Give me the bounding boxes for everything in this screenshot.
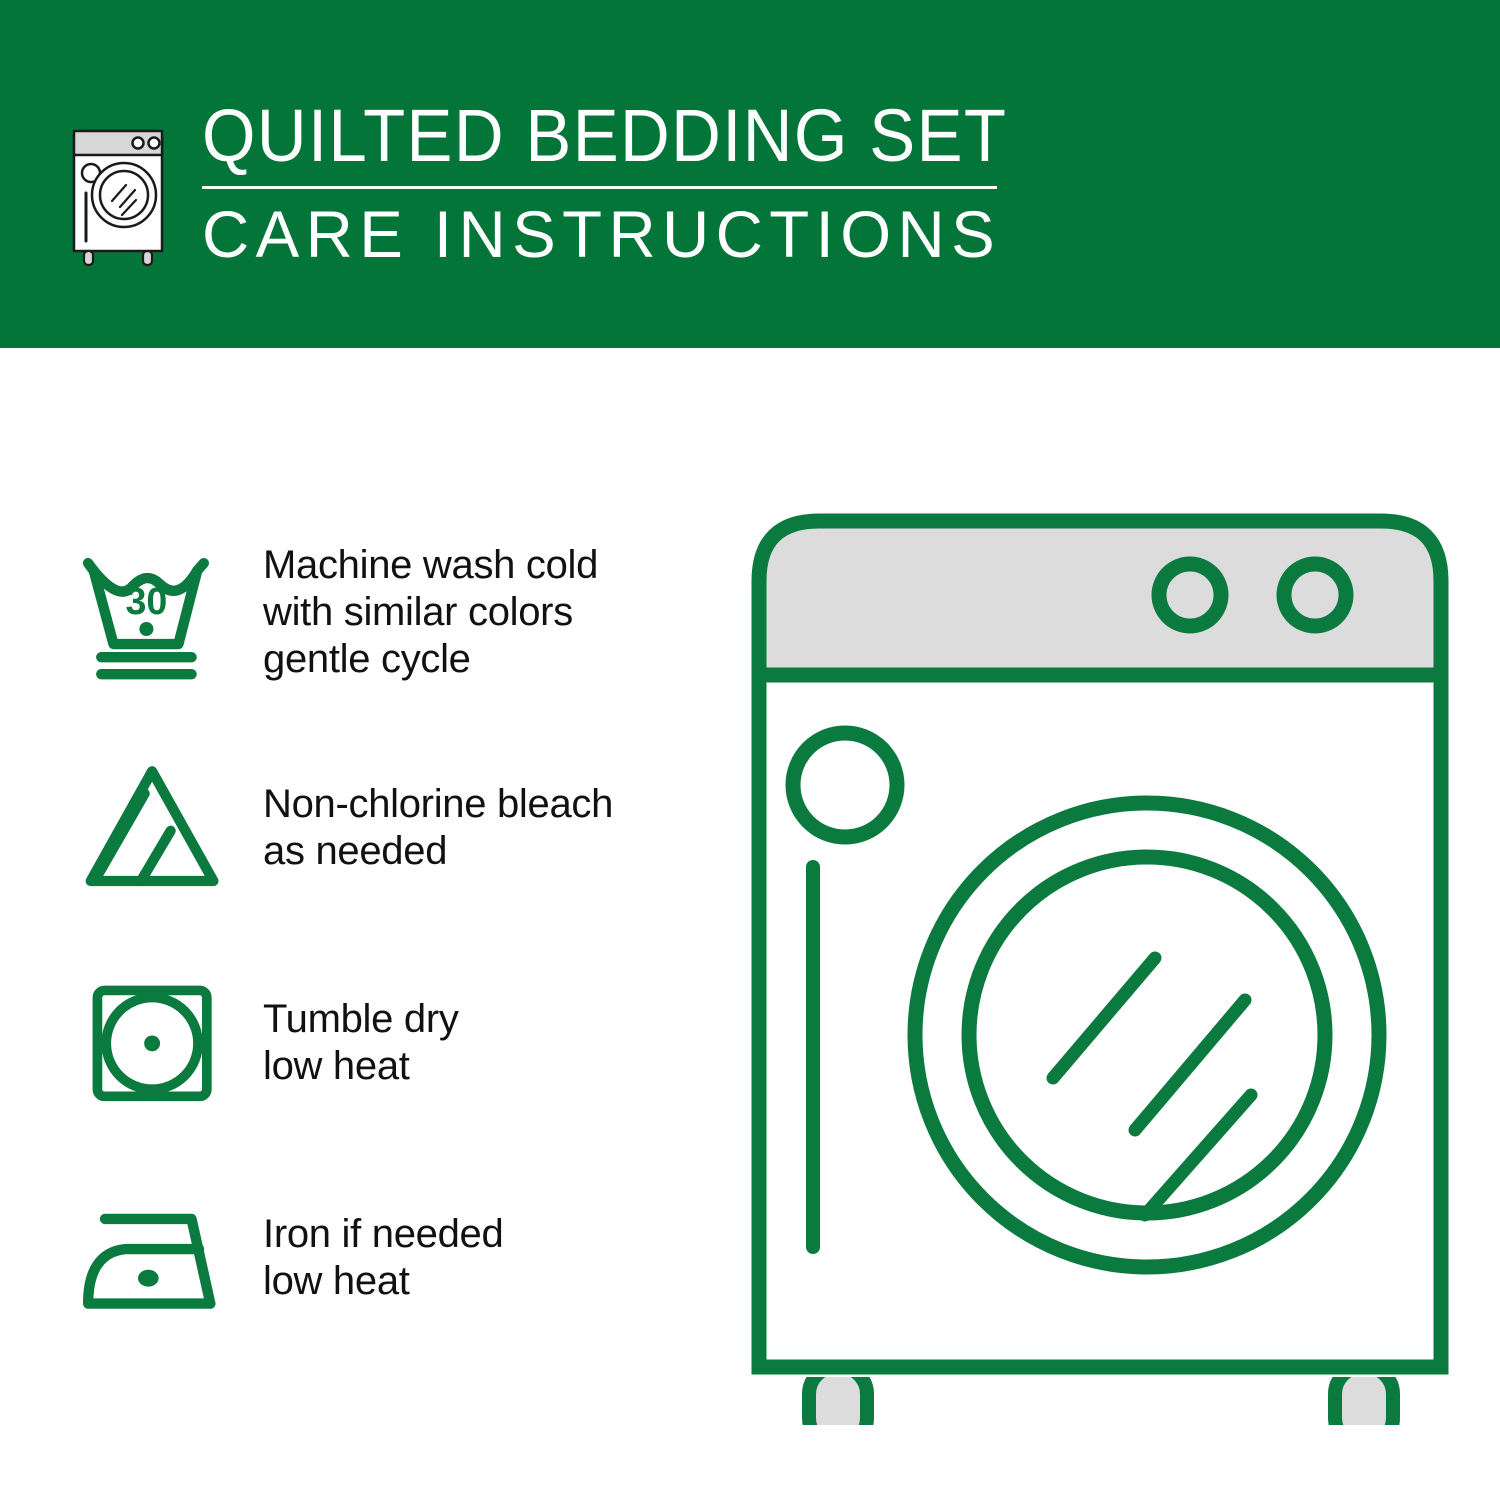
care-row-bleach: Non-chlorine bleach as needed — [70, 720, 710, 935]
care-instruction-list: 30 Machine wash cold with similar colors… — [70, 505, 710, 1365]
tumble-dry-low-heat-icon — [70, 968, 235, 1118]
care-label-line: Tumble dry — [263, 996, 710, 1043]
iron-low-heat-icon — [70, 1183, 235, 1333]
care-label-line: low heat — [263, 1043, 710, 1090]
bleach-triangle-non-chlorine-icon — [70, 753, 235, 903]
header-titles: QUILTED BEDDING SET CARE INSTRUCTIONS — [202, 95, 1068, 270]
door-glass-streaks — [1053, 958, 1251, 1215]
page-subtitle: CARE INSTRUCTIONS — [202, 198, 1059, 270]
care-row-wash: 30 Machine wash cold with similar colors… — [70, 505, 710, 720]
care-label-line: gentle cycle — [263, 636, 710, 683]
care-label-line: Machine wash cold — [263, 542, 710, 589]
washing-machine-icon — [60, 101, 180, 271]
care-label-iron: Iron if needed low heat — [235, 1211, 710, 1305]
header-content: QUILTED BEDDING SET CARE INSTRUCTIONS — [60, 95, 1050, 280]
care-label-tumble-dry: Tumble dry low heat — [235, 996, 710, 1090]
wash-temperature-value: 30 — [125, 579, 167, 621]
care-row-iron: Iron if needed low heat — [70, 1150, 710, 1365]
care-label-bleach: Non-chlorine bleach as needed — [235, 781, 710, 875]
door-outer-ring — [915, 803, 1379, 1267]
care-label-line: with similar colors — [263, 589, 710, 636]
care-row-tumble-dry: Tumble dry low heat — [70, 935, 710, 1150]
wash-tub-30-gentle-icon: 30 — [70, 538, 235, 688]
care-label-line: Iron if needed — [263, 1211, 710, 1258]
care-instructions-page: QUILTED BEDDING SET CARE INSTRUCTIONS 30 — [0, 0, 1500, 1500]
care-label-wash: Machine wash cold with similar colors ge… — [235, 542, 710, 683]
care-label-line: as needed — [263, 828, 710, 875]
detergent-port — [793, 733, 897, 837]
header-band: QUILTED BEDDING SET CARE INSTRUCTIONS — [0, 0, 1500, 348]
door-inner-ring — [969, 857, 1325, 1213]
title-divider — [202, 186, 997, 189]
care-label-line: Non-chlorine bleach — [263, 781, 710, 828]
care-label-line: low heat — [263, 1258, 710, 1305]
page-title: QUILTED BEDDING SET — [202, 97, 1007, 175]
front-load-washing-machine-illustration — [735, 495, 1465, 1425]
